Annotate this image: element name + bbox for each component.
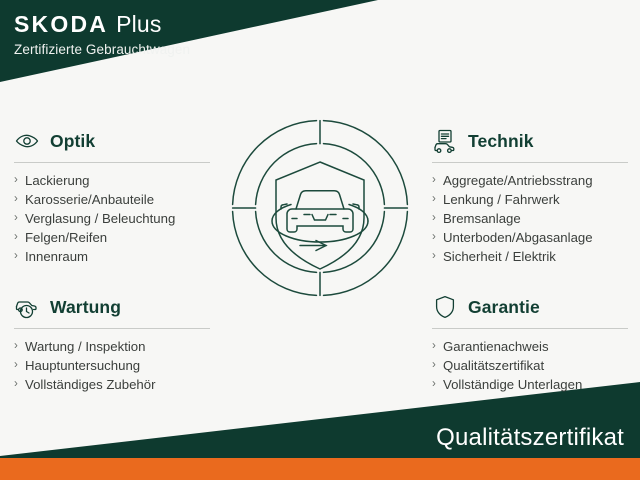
list-item-label: Innenraum <box>25 249 88 264</box>
eye-icon <box>14 128 40 154</box>
section-divider-optik <box>14 162 210 163</box>
section-garantie: Garantie ›Garantienachweis ›Qualitätszer… <box>432 292 632 394</box>
list-item-label: Unterboden/Abgasanlage <box>443 230 593 245</box>
section-divider-wartung <box>14 328 210 329</box>
list-item: ›Felgen/Reifen <box>14 228 214 247</box>
list-item-label: Hauptuntersuchung <box>25 358 140 373</box>
list-item-label: Garantienachweis <box>443 339 549 354</box>
chevron-right-icon: › <box>14 375 18 394</box>
section-list-technik: ›Aggregate/Antriebsstrang ›Lenkung / Fah… <box>432 171 632 266</box>
list-item: ›Garantienachweis <box>432 337 632 356</box>
car-front-icon <box>281 191 359 232</box>
section-title-wartung: Wartung <box>50 297 121 318</box>
section-optik: Optik ›Lackierung ›Karosserie/Anbauteile… <box>14 126 214 266</box>
section-list-wartung: ›Wartung / Inspektion ›Hauptuntersuchung… <box>14 337 214 394</box>
brand-suffix: Plus <box>116 13 162 36</box>
section-technik: Technik ›Aggregate/Antriebsstrang ›Lenku… <box>432 126 632 266</box>
brand-tagline: Zertifizierte Gebrauchtwagen <box>14 43 190 57</box>
chevron-right-icon: › <box>14 190 18 209</box>
chevron-right-icon: › <box>14 209 18 228</box>
chevron-right-icon: › <box>432 356 436 375</box>
chevron-right-icon: › <box>432 190 436 209</box>
chevron-right-icon: › <box>14 337 18 356</box>
list-item: ›Innenraum <box>14 247 214 266</box>
list-item-label: Bremsanlage <box>443 211 521 226</box>
car-service-clock-icon <box>14 294 40 320</box>
list-item: ›Hauptuntersuchung <box>14 356 214 375</box>
list-item: ›Verglasung / Beleuchtung <box>14 209 214 228</box>
section-list-garantie: ›Garantienachweis ›Qualitätszertifikat ›… <box>432 337 632 394</box>
section-divider-technik <box>432 162 628 163</box>
list-item-label: Felgen/Reifen <box>25 230 107 245</box>
list-item: ›Karosserie/Anbauteile <box>14 190 214 209</box>
list-item: ›Aggregate/Antriebsstrang <box>432 171 632 190</box>
brand-name: SKODA <box>14 13 108 36</box>
chevron-right-icon: › <box>432 228 436 247</box>
shield-outline <box>276 162 364 269</box>
list-item-label: Vollständiges Zubehör <box>25 377 156 392</box>
list-item-label: Vollständige Unterlagen <box>443 377 582 392</box>
car-document-icon <box>432 128 458 154</box>
list-item: ›Lenkung / Fahrwerk <box>432 190 632 209</box>
list-item: ›Vollständiges Zubehör <box>14 375 214 394</box>
brand-logo: SKODA Plus Zertifizierte Gebrauchtwagen <box>14 13 190 57</box>
chevron-right-icon: › <box>432 247 436 266</box>
list-item: ›Qualitätszertifikat <box>432 356 632 375</box>
chevron-right-icon: › <box>14 247 18 266</box>
list-item-label: Sicherheit / Elektrik <box>443 249 556 264</box>
list-item: ›Sicherheit / Elektrik <box>432 247 632 266</box>
certificate-page: SKODA Plus Zertifizierte Gebrauchtwagen … <box>0 0 640 480</box>
list-item-label: Lackierung <box>25 173 90 188</box>
list-item: ›Wartung / Inspektion <box>14 337 214 356</box>
inner-ring <box>256 144 385 273</box>
orange-accent-bar <box>0 458 640 480</box>
certified-vehicle-shield-emblem <box>230 118 410 298</box>
list-item: ›Vollständige Unterlagen <box>432 375 632 394</box>
chevron-right-icon: › <box>432 337 436 356</box>
chevron-right-icon: › <box>14 356 18 375</box>
section-title-optik: Optik <box>50 131 95 152</box>
list-item: ›Lackierung <box>14 171 214 190</box>
list-item-label: Karosserie/Anbauteile <box>25 192 154 207</box>
section-title-garantie: Garantie <box>468 297 540 318</box>
section-header-optik: Optik <box>14 126 214 156</box>
section-wartung: Wartung ›Wartung / Inspektion ›Hauptunte… <box>14 292 214 394</box>
section-title-technik: Technik <box>468 131 534 152</box>
section-list-optik: ›Lackierung ›Karosserie/Anbauteile ›Verg… <box>14 171 214 266</box>
list-item-label: Aggregate/Antriebsstrang <box>443 173 593 188</box>
chevron-right-icon: › <box>14 228 18 247</box>
section-divider-garantie <box>432 328 628 329</box>
chevron-right-icon: › <box>432 171 436 190</box>
chevron-right-icon: › <box>432 375 436 394</box>
shield-icon <box>432 294 458 320</box>
list-item-label: Wartung / Inspektion <box>25 339 145 354</box>
footer-title: Qualitätszertifikat <box>436 424 624 452</box>
right-column: Technik ›Aggregate/Antriebsstrang ›Lenku… <box>432 126 632 394</box>
list-item: ›Unterboden/Abgasanlage <box>432 228 632 247</box>
left-column: Optik ›Lackierung ›Karosserie/Anbauteile… <box>14 126 214 394</box>
section-header-technik: Technik <box>432 126 632 156</box>
list-item-label: Verglasung / Beleuchtung <box>25 211 175 226</box>
chevron-right-icon: › <box>14 171 18 190</box>
section-header-garantie: Garantie <box>432 292 632 322</box>
list-item-label: Lenkung / Fahrwerk <box>443 192 560 207</box>
list-item-label: Qualitätszertifikat <box>443 358 544 373</box>
section-header-wartung: Wartung <box>14 292 214 322</box>
list-item: ›Bremsanlage <box>432 209 632 228</box>
chevron-right-icon: › <box>432 209 436 228</box>
